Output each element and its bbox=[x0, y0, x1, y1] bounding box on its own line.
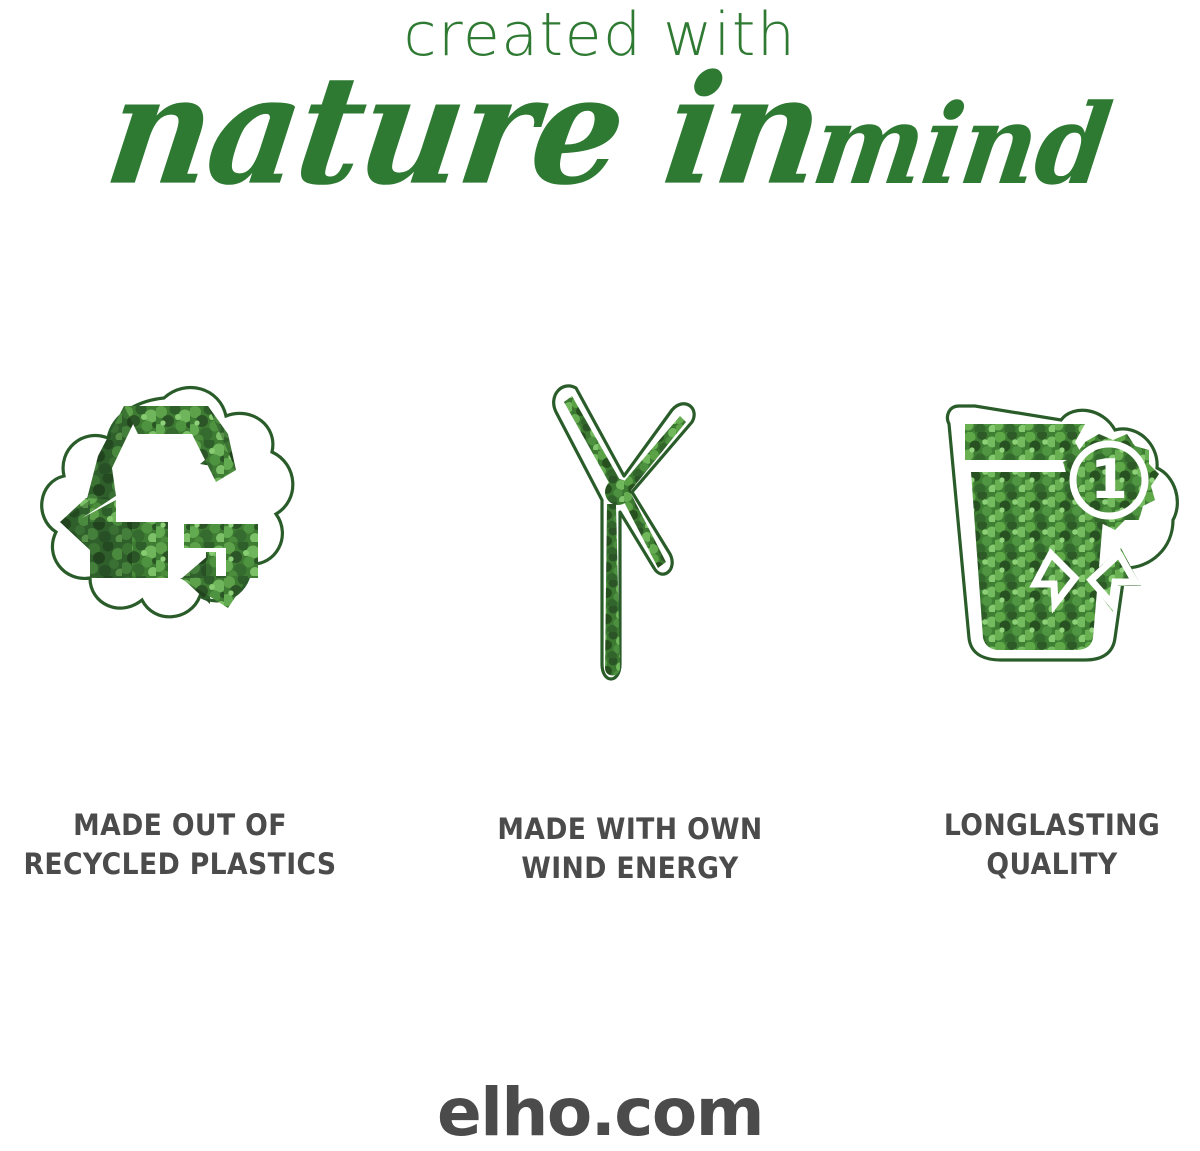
pot-rim bbox=[965, 424, 1085, 460]
headline-block: created with nature inmind bbox=[0, 0, 1200, 240]
headline-script: nature inmind bbox=[0, 64, 1200, 206]
headline-script-word-1: nature in bbox=[99, 55, 829, 206]
feature-icon-row: 1 bbox=[0, 372, 1200, 712]
elho-logo[interactable]: elho.com bbox=[0, 1080, 1200, 1146]
turbine-hub bbox=[605, 479, 631, 505]
page-root: { "headline": { "kicker": "created with"… bbox=[0, 0, 1200, 1148]
feature-item-recycled bbox=[20, 372, 310, 712]
flower-pot-award-icon: 1 bbox=[935, 372, 1185, 702]
turbine-blade-right bbox=[620, 416, 686, 494]
caption-longlasting-quality: LONGLASTING QUALITY bbox=[776, 806, 1200, 883]
rosette-badge-number: 1 bbox=[1090, 448, 1128, 511]
recycling-symbol-icon bbox=[20, 372, 310, 702]
wind-turbine-icon bbox=[520, 372, 710, 702]
caption-line: LONGLASTING bbox=[776, 806, 1200, 845]
feature-item-quality: 1 bbox=[935, 372, 1185, 712]
caption-line: QUALITY bbox=[776, 845, 1200, 884]
headline-script-word-2: mind bbox=[807, 90, 1116, 200]
feature-item-wind bbox=[520, 372, 710, 712]
turbine-blade-down bbox=[622, 492, 666, 568]
